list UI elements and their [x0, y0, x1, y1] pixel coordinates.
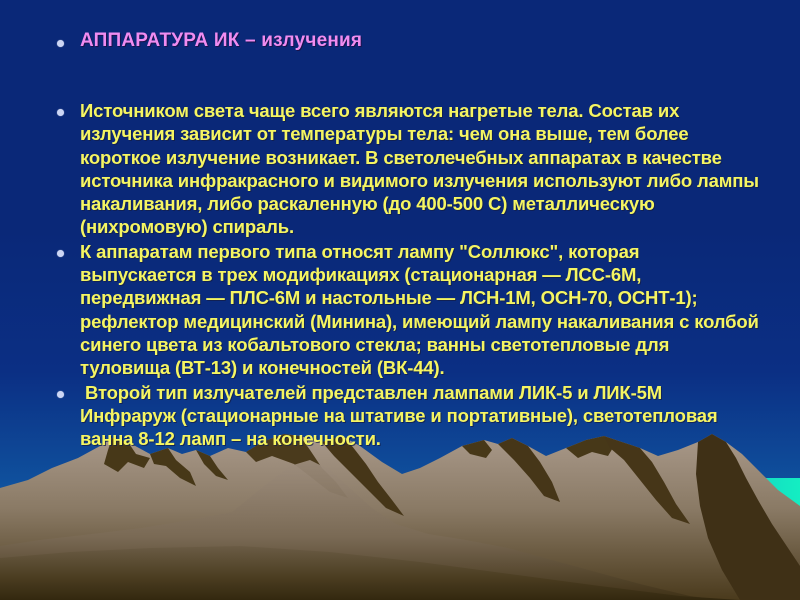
bullet-item-light-source: Источником света чаще всего являются наг… [48, 99, 760, 239]
paragraph-first-type: К аппаратам первого типа относят лампу "… [80, 240, 760, 380]
title-block: АППАРАТУРА ИК – излучения [48, 28, 768, 54]
paragraph-second-type-tail: (стационарные на штативе и портативные),… [80, 405, 723, 449]
title-bullet-list: АППАРАТУРА ИК – излучения [48, 28, 768, 54]
paragraph-light-source: Источником света чаще всего являются наг… [80, 99, 760, 239]
bullet-item-first-type: К аппаратам первого типа относят лампу "… [48, 240, 760, 380]
body-bullet-list: Источником света чаще всего являются наг… [48, 99, 760, 450]
slide-title: АППАРАТУРА ИК – излучения [80, 28, 768, 54]
paragraph-second-type: Второй тип излучателей представлен лампа… [80, 381, 760, 451]
paragraph-second-type-lead: Второй тип излучателей представлен лампа… [80, 382, 667, 403]
presentation-slide: АППАРАТУРА ИК – излучения Источником све… [0, 0, 800, 600]
body-block: Источником света чаще всего являются наг… [48, 99, 760, 451]
title-bullet-item: АППАРАТУРА ИК – излучения [48, 28, 768, 54]
bullet-item-second-type: Второй тип излучателей представлен лампа… [48, 381, 760, 451]
paragraph-second-type-emphasis: Инфраруж [80, 405, 176, 426]
